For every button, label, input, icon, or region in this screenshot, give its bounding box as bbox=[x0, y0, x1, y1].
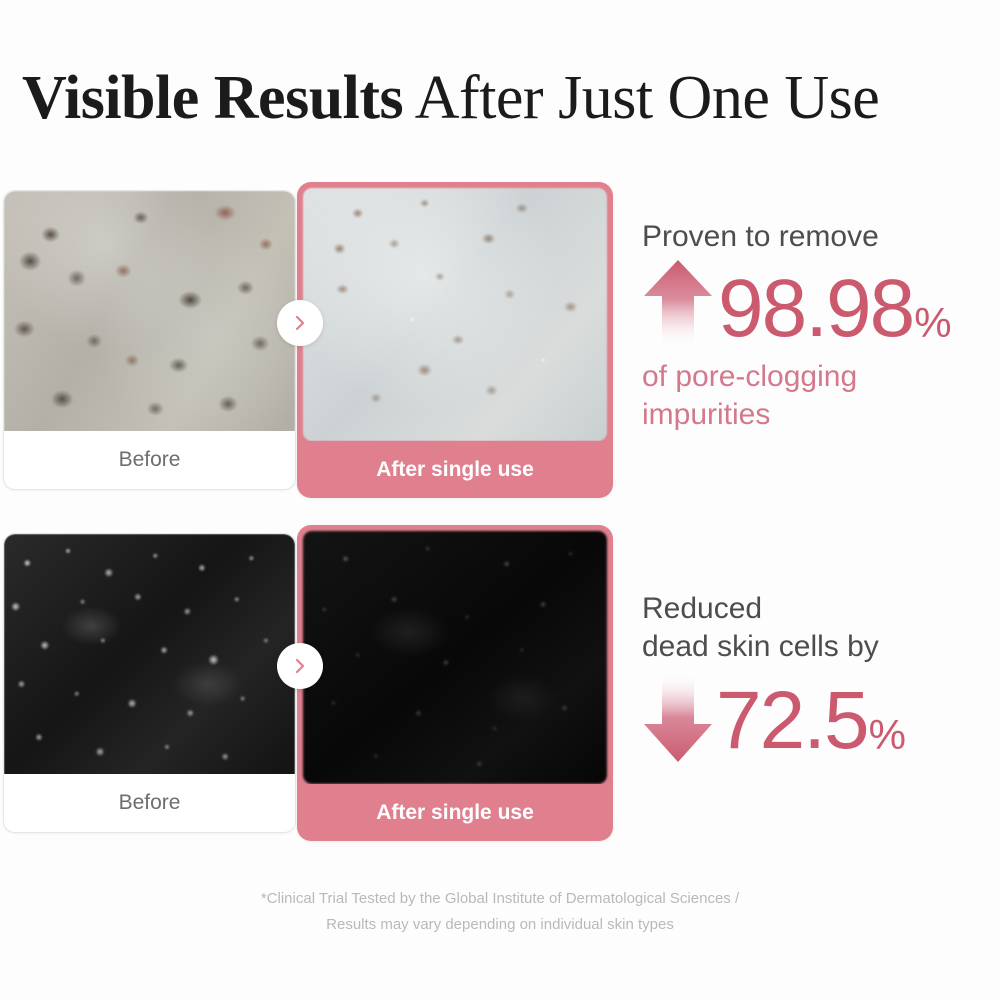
arrow-up-icon bbox=[642, 258, 714, 348]
stat-block-dead-skin: Reduced dead skin cells by 72.5 % bbox=[642, 590, 1000, 762]
footnote-disclaimer: *Clinical Trial Tested by the Global Ins… bbox=[0, 886, 1000, 938]
stat-lead-2: Reduced dead skin cells by bbox=[642, 590, 1000, 666]
stat-unit-1: % bbox=[914, 302, 951, 344]
page-title-bold: Visible Results bbox=[22, 64, 403, 132]
page-title-light: After Just One Use bbox=[403, 64, 879, 132]
after-label-1: After single use bbox=[297, 441, 613, 498]
before-card-2[interactable]: Before bbox=[3, 533, 296, 833]
chevron-right-icon bbox=[277, 300, 323, 346]
stat-unit-2: % bbox=[869, 714, 906, 756]
after-photo-1 bbox=[303, 188, 607, 441]
after-photo-2 bbox=[303, 531, 607, 784]
stat-value-2: 72.5 bbox=[716, 680, 868, 762]
arrow-down-icon bbox=[642, 672, 714, 764]
before-label-2: Before bbox=[4, 774, 295, 832]
stat-figure-2: 72.5 % bbox=[642, 670, 1000, 762]
infographic-page: Visible Results After Just One Use Befor… bbox=[0, 0, 1000, 1000]
stat-value-1: 98.98 bbox=[718, 268, 913, 350]
chevron-right-icon bbox=[277, 643, 323, 689]
stat-sub-1: of pore-clogging impurities bbox=[642, 358, 1000, 434]
stat-lead-1: Proven to remove bbox=[642, 218, 1000, 256]
stat-block-impurities: Proven to remove 98.98 % of pore-cloggin… bbox=[642, 218, 1000, 434]
before-photo-1 bbox=[4, 191, 295, 433]
after-card-2[interactable]: After single use bbox=[297, 525, 613, 841]
page-title: Visible Results After Just One Use bbox=[22, 62, 982, 134]
stat-figure-1: 98.98 % bbox=[642, 258, 1000, 350]
before-photo-2 bbox=[4, 534, 295, 776]
after-label-2: After single use bbox=[297, 784, 613, 841]
after-card-1[interactable]: After single use bbox=[297, 182, 613, 498]
before-label-1: Before bbox=[4, 431, 295, 489]
before-card-1[interactable]: Before bbox=[3, 190, 296, 490]
